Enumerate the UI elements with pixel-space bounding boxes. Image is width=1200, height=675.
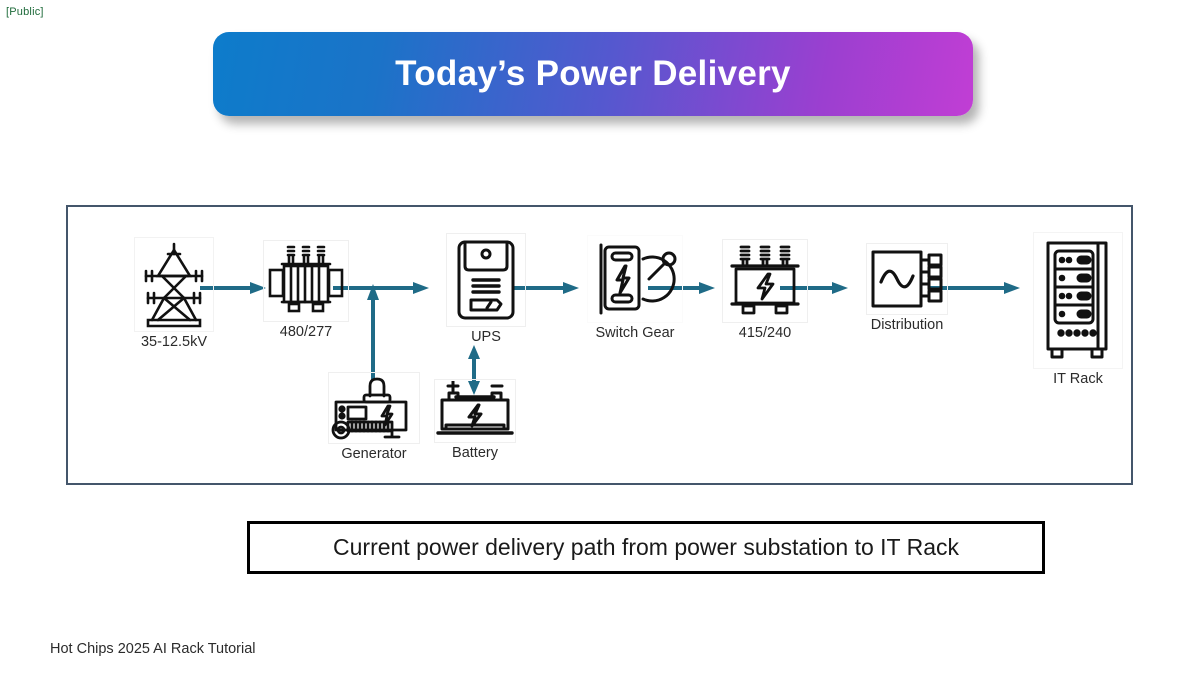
node-label-substation: 35-12.5kV [126,334,222,350]
page-title: Today’s Power Delivery [395,54,791,94]
classification-marker: [Public] [6,6,44,18]
caption-box: Current power delivery path from power s… [247,521,1045,574]
node-label-transformer-lv: 415/240 [708,325,822,341]
node-label-it-rack: IT Rack [1023,371,1133,387]
ups-icon [446,233,526,327]
title-banner: Today’s Power Delivery [213,32,973,116]
node-label-generator: Generator [316,446,432,462]
node-generator[interactable]: Generator [316,372,432,462]
node-label-battery: Battery [423,445,527,461]
node-battery[interactable]: Battery [423,379,527,461]
node-label-transformer-mv: 480/277 [253,324,359,340]
node-substation[interactable]: 35-12.5kV [126,237,222,350]
power-delivery-diagram: 35-12.5kV [66,205,1133,485]
switchgear-icon [587,235,683,323]
distribution-panel-icon [866,243,948,315]
node-it-rack[interactable]: IT Rack [1023,232,1133,387]
generator-icon [328,372,420,444]
transformer-icon [263,240,349,322]
node-transformer-mv[interactable]: 480/277 [253,240,359,340]
connector-generator-to-bus [366,284,380,380]
node-ups[interactable]: UPS [433,233,539,345]
caption-text: Current power delivery path from power s… [333,534,959,561]
server-rack-icon [1033,232,1123,369]
node-distribution[interactable]: Distribution [848,243,966,333]
node-label-switchgear: Switch Gear [576,325,694,341]
transformer-bolt-icon [722,239,808,323]
battery-icon [434,379,516,443]
node-label-distribution: Distribution [848,317,966,333]
node-label-ups: UPS [433,329,539,345]
transmission-tower-icon [134,237,214,332]
node-switchgear[interactable]: Switch Gear [576,235,694,341]
footer-text: Hot Chips 2025 AI Rack Tutorial [50,641,256,657]
node-transformer-lv[interactable]: 415/240 [708,239,822,341]
